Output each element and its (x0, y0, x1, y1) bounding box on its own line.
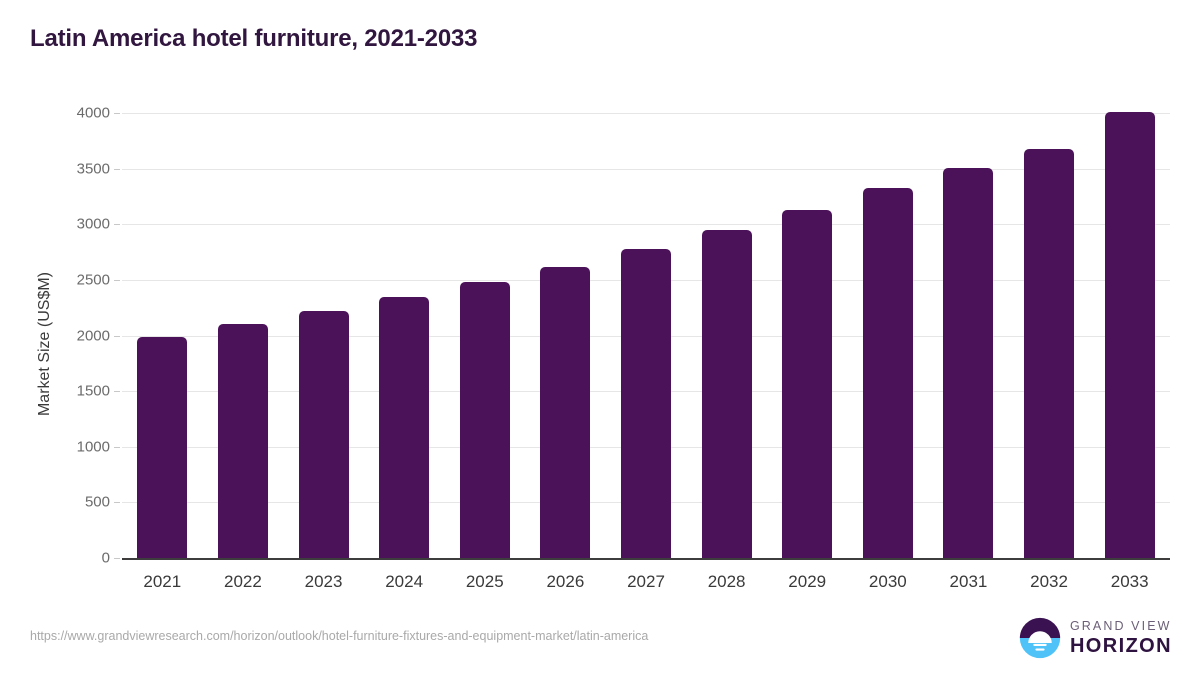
y-axis-tick-label: 1000 (77, 438, 110, 455)
x-axis-tick-label: 2025 (440, 572, 530, 592)
source-url[interactable]: https://www.grandviewresearch.com/horizo… (30, 629, 648, 643)
x-axis-tick-label: 2033 (1085, 572, 1175, 592)
logo-text: GRAND VIEW HORIZON (1070, 620, 1172, 657)
x-axis-tick-label: 2024 (359, 572, 449, 592)
logo-line-horizon: HORIZON (1070, 636, 1172, 656)
x-axis-tick-label: 2031 (923, 572, 1013, 592)
x-axis-tick-label: 2027 (601, 572, 691, 592)
y-axis-tick-label: 2500 (77, 271, 110, 288)
horizon-logo-icon (1019, 617, 1061, 659)
chart-page: Latin America hotel furniture, 2021-2033… (0, 0, 1200, 675)
x-axis-tick-label: 2022 (198, 572, 288, 592)
y-axis-tick-mark (114, 224, 120, 225)
x-axis-tick-label: 2029 (762, 572, 852, 592)
y-axis-tick-label: 3500 (77, 160, 110, 177)
y-axis-tick-labels: 05001000150020002500300035004000 (0, 0, 110, 675)
y-axis-tick-mark (114, 336, 120, 337)
x-axis-tick-label: 2028 (682, 572, 772, 592)
x-axis-tick-label: 2026 (520, 572, 610, 592)
y-axis-tick-mark (114, 113, 120, 114)
y-axis-title: Market Size (US$M) (36, 144, 54, 544)
x-axis-tick-labels: 2021202220232024202520262027202820292030… (122, 0, 1170, 675)
y-axis-tick-label: 0 (102, 550, 110, 567)
y-axis-tick-label: 3000 (77, 216, 110, 233)
y-axis-tick-label: 4000 (77, 105, 110, 122)
x-axis-tick-label: 2021 (117, 572, 207, 592)
y-axis-tick-label: 1500 (77, 383, 110, 400)
y-axis-tick-mark (114, 169, 120, 170)
y-axis-tick-mark (114, 447, 120, 448)
chart-plot-area: 05001000150020002500300035004000 Market … (0, 0, 1200, 675)
x-axis-tick-label: 2030 (843, 572, 933, 592)
x-axis-tick-label: 2023 (279, 572, 369, 592)
y-axis-tick-label: 500 (85, 494, 110, 511)
y-axis-tick-mark (114, 558, 120, 559)
logo-line-grand-view: GRAND VIEW (1070, 620, 1172, 633)
x-axis-tick-label: 2032 (1004, 572, 1094, 592)
y-axis-tick-mark (114, 280, 120, 281)
brand-logo: GRAND VIEW HORIZON (1019, 617, 1172, 659)
y-axis-tick-mark (114, 502, 120, 503)
y-axis-tick-label: 2000 (77, 327, 110, 344)
y-axis-tick-mark (114, 391, 120, 392)
